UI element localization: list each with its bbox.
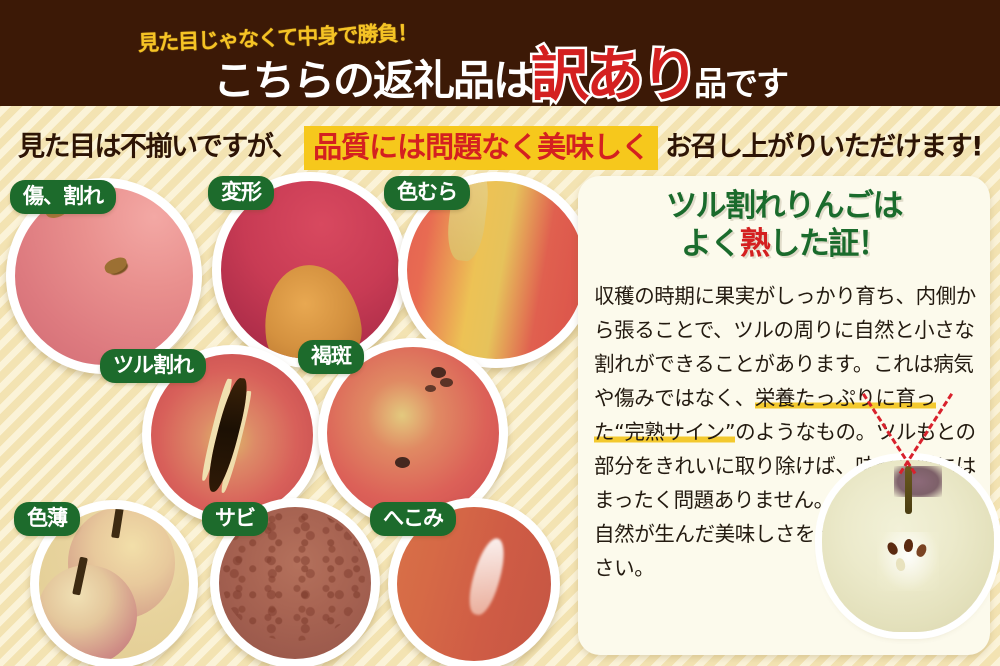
info-card-title-line2-pre: よく	[681, 226, 740, 262]
info-card: ツル割れりんごは よく熟した証！ 収穫の時期に果実がしっかり育ち、内側から張るこ…	[578, 176, 990, 655]
info-card-title: ツル割れりんごは よく熟した証！	[578, 188, 990, 264]
cut-apple-photo	[822, 460, 994, 632]
photo-label: へこみ	[370, 502, 456, 536]
info-card-title-line2-post: した証！	[769, 226, 887, 262]
photo-label: 変形	[208, 176, 274, 210]
promo-banner: 見た目じゃなくて中身で勝負！ こちらの返礼品は訳あり品です 見た目は不揃いですが…	[0, 0, 1000, 666]
subtitle-highlight: 品質には問題なく美味しく	[304, 126, 658, 170]
page-title: こちらの返礼品は訳あり品です	[0, 46, 1000, 104]
headline-post: 品です	[694, 64, 787, 103]
photo-label: サビ	[202, 502, 268, 536]
info-card-title-accent: 熟	[740, 226, 770, 262]
subtitle-pre: 見た目は不揃いですが、	[18, 132, 297, 163]
headline-accent: 訳あり	[531, 41, 696, 106]
photo-label: 褐斑	[298, 340, 364, 374]
photo-label: 傷、割れ	[10, 180, 116, 214]
body-text-marked2: “完熟サイン”	[614, 420, 735, 444]
headline-pre: こちらの返礼品は	[213, 56, 533, 105]
subtitle-post: お召し上がりいただけます!	[665, 132, 982, 163]
photo-label: ツル割れ	[100, 349, 206, 383]
subtitle: 見た目は不揃いですが、品質には問題なく美味しくお召し上がりいただけます!	[0, 125, 1000, 169]
info-card-title-line1: ツル割れりんごは	[666, 188, 902, 224]
header-bar: 見た目じゃなくて中身で勝負！ こちらの返礼品は訳あり品です	[0, 0, 1000, 106]
apple-stem	[905, 466, 912, 514]
photo-label: 色薄	[14, 502, 80, 536]
photo-label: 色むら	[384, 176, 470, 210]
